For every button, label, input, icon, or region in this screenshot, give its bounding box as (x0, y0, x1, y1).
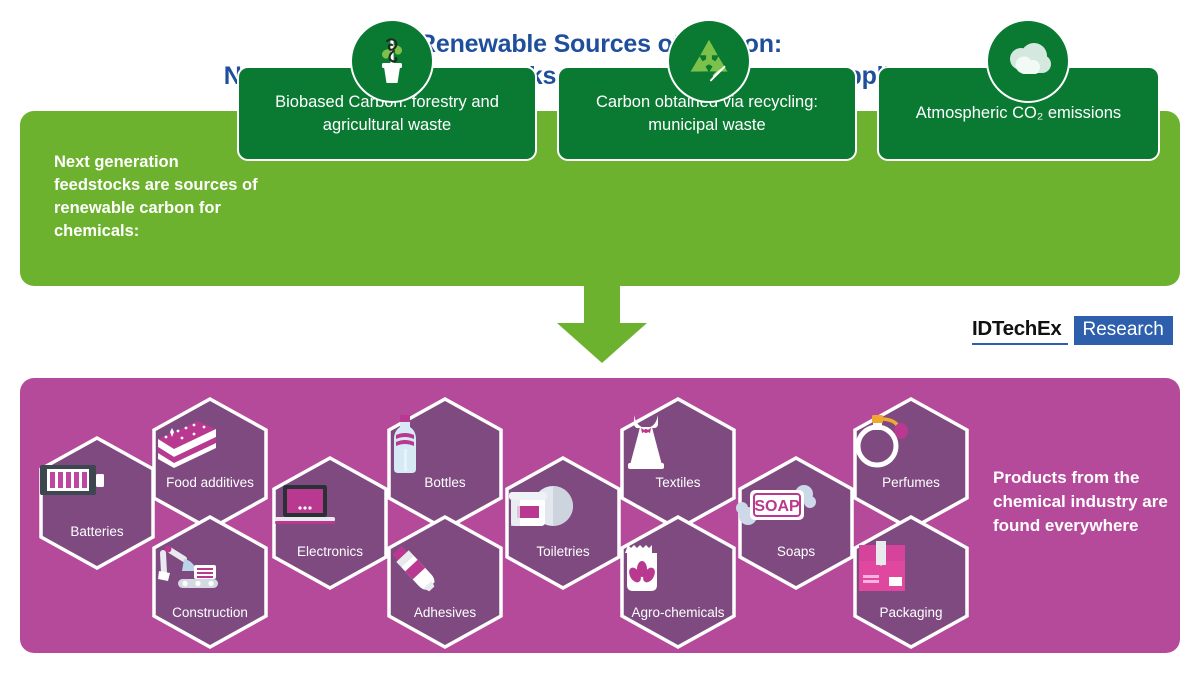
logo-wordmark: IDTechEx (972, 316, 1068, 345)
seed-bag-icon (618, 539, 738, 597)
logo-research-badge: Research (1074, 316, 1173, 345)
hex-packaging[interactable]: Packaging (851, 513, 971, 651)
hex-label: Toiletries (503, 544, 623, 560)
laptop-icon (270, 480, 390, 538)
arrow-down-icon (557, 283, 647, 363)
hex-label: Construction (150, 605, 270, 621)
source-card-label: Atmospheric CO₂ emissions (916, 102, 1121, 125)
products-panel-note: Products from the chemical industry are … (993, 466, 1178, 538)
hex-adhesives[interactable]: Adhesives (385, 513, 505, 651)
recycling-icon (667, 19, 751, 103)
hex-construction[interactable]: Construction (150, 513, 270, 651)
soap-icon-text: SOAP (754, 498, 800, 515)
parcel-box-icon (851, 539, 971, 597)
hex-label: Food additives (150, 475, 270, 491)
arrow-stem (584, 283, 620, 325)
arrow-head (557, 323, 647, 363)
cloud-icon (986, 19, 1070, 103)
bottle-icon (385, 413, 505, 471)
hex-agro-chemicals[interactable]: Agro-chemicals (618, 513, 738, 651)
battery-icon (37, 460, 157, 518)
hex-soaps[interactable]: SOAP Soaps (736, 454, 856, 592)
glue-tube-icon (385, 539, 505, 597)
hex-toiletries[interactable]: Toiletries (503, 454, 623, 592)
hex-label: Batteries (37, 524, 157, 540)
plant-pot-icon (350, 19, 434, 103)
hex-batteries[interactable]: Batteries (37, 434, 157, 572)
hex-label: Electronics (270, 544, 390, 560)
idtechex-logo[interactable]: IDTechEx Research (972, 316, 1173, 345)
hex-label: Agro-chemicals (618, 605, 738, 621)
soap-bar-icon: SOAP (736, 480, 856, 538)
perfume-bottle-icon (851, 413, 971, 471)
excavator-icon (150, 539, 270, 597)
banner-lead-text: Next generation feedstocks are sources o… (54, 151, 269, 243)
hex-label: Perfumes (851, 475, 971, 491)
infographic-canvas: Renewable Sources of Carbon: Next Genera… (0, 0, 1200, 674)
hex-label: Textiles (618, 475, 738, 491)
cake-slice-icon (150, 413, 270, 471)
dress-icon (618, 413, 738, 471)
hex-label: Bottles (385, 475, 505, 491)
hex-label: Soaps (736, 544, 856, 560)
hex-label: Packaging (851, 605, 971, 621)
toiletries-jar-icon (503, 480, 623, 538)
hex-label: Adhesives (385, 605, 505, 621)
hex-electronics[interactable]: Electronics (270, 454, 390, 592)
